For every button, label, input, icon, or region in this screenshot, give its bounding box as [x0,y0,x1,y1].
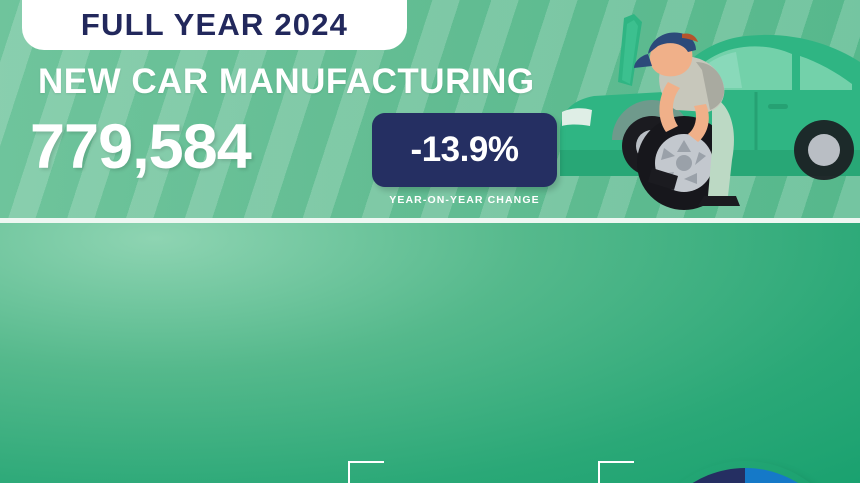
header-band: FULL YEAR 2024 NEW CAR MANUFACTURING 779… [0,0,860,218]
breakdown-band: HOME 176,019 EXPORT [0,223,860,483]
total-production-value: 779,584 [30,116,251,179]
full-year-pill: FULL YEAR 2024 [22,0,407,50]
overall-yoy-value: -13.9% [411,130,519,170]
export-share-bracket: EXPORT SHARE [598,461,634,483]
page-title: NEW CAR MANUFACTURING [38,62,535,102]
full-year-label: FULL YEAR 2024 [81,7,348,43]
infographic-root: FULL YEAR 2024 NEW CAR MANUFACTURING 779… [0,0,860,483]
mechanic-changing-car-wheel-illustration [556,0,860,218]
overall-yoy-badge: -13.9% [372,113,557,187]
overall-yoy-caption: YEAR-ON-YEAR CHANGE [372,194,557,206]
export-share-donut-chart: HOME 22.6% EXPORTS 77.4% [638,461,852,483]
yoy-bracket: YEAR-ON-YEAR CHANGE [348,461,384,483]
